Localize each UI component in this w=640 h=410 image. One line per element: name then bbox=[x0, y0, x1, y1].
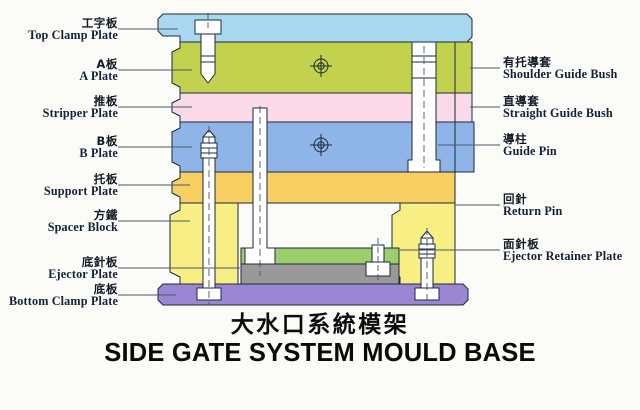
label-ejector-retainer-plate-en: Ejector Retainer Plate bbox=[503, 250, 622, 263]
label-return-pin-en: Return Pin bbox=[503, 205, 562, 218]
label-shoulder-guide-bush-en: Shoulder Guide Bush bbox=[503, 68, 617, 81]
label-shoulder-guide-bush: 有托導套 Shoulder Guide Bush bbox=[503, 56, 617, 82]
diagram-title: 大水口系統模架 SIDE GATE SYSTEM MOULD BASE bbox=[0, 312, 640, 368]
label-bottom-clamp-plate-en: Bottom Clamp Plate bbox=[0, 295, 118, 308]
label-spacer-block-en: Spacer Block bbox=[0, 221, 118, 234]
label-return-pin: 回針 Return Pin bbox=[503, 193, 562, 219]
cap-screw-shank-top bbox=[201, 34, 215, 83]
label-straight-guide-bush-en: Straight Guide Bush bbox=[503, 107, 613, 120]
label-straight-guide-bush: 直導套 Straight Guide Bush bbox=[503, 95, 613, 121]
label-ejector-plate-en: Ejector Plate bbox=[0, 268, 118, 281]
straight-guide-bush bbox=[455, 93, 472, 122]
mould-base-diagram: 工字板 Top Clamp Plate A板 A Plate 推板 Stripp… bbox=[0, 0, 640, 410]
label-a-plate: A板 A Plate bbox=[0, 58, 118, 84]
label-ejector-plate: 底針板 Ejector Plate bbox=[0, 256, 118, 282]
label-b-plate: B板 B Plate bbox=[0, 135, 118, 161]
label-ejector-retainer-plate: 面針板 Ejector Retainer Plate bbox=[503, 238, 622, 264]
label-support-plate: 托板 Support Plate bbox=[0, 173, 118, 199]
diagram-title-en: SIDE GATE SYSTEM MOULD BASE bbox=[0, 339, 640, 368]
label-support-plate-en: Support Plate bbox=[0, 185, 118, 198]
label-guide-pin-en: Guide Pin bbox=[503, 145, 557, 158]
guide-pin-seat bbox=[455, 122, 474, 172]
label-bottom-clamp-plate: 底板 Bottom Clamp Plate bbox=[0, 283, 118, 309]
label-guide-pin: 導柱 Guide Pin bbox=[503, 133, 557, 159]
label-stripper-plate: 推板 Stripper Plate bbox=[0, 95, 118, 121]
label-spacer-block: 方鐵 Spacer Block bbox=[0, 209, 118, 235]
label-a-plate-en: A Plate bbox=[0, 70, 118, 83]
diagram-title-cn: 大水口系統模架 bbox=[0, 312, 640, 339]
label-top-clamp-plate: 工字板 Top Clamp Plate bbox=[0, 17, 118, 43]
label-top-clamp-plate-en: Top Clamp Plate bbox=[0, 29, 118, 42]
label-b-plate-en: B Plate bbox=[0, 147, 118, 160]
label-stripper-plate-en: Stripper Plate bbox=[0, 107, 118, 120]
shoulder-guide-bush bbox=[455, 42, 472, 93]
